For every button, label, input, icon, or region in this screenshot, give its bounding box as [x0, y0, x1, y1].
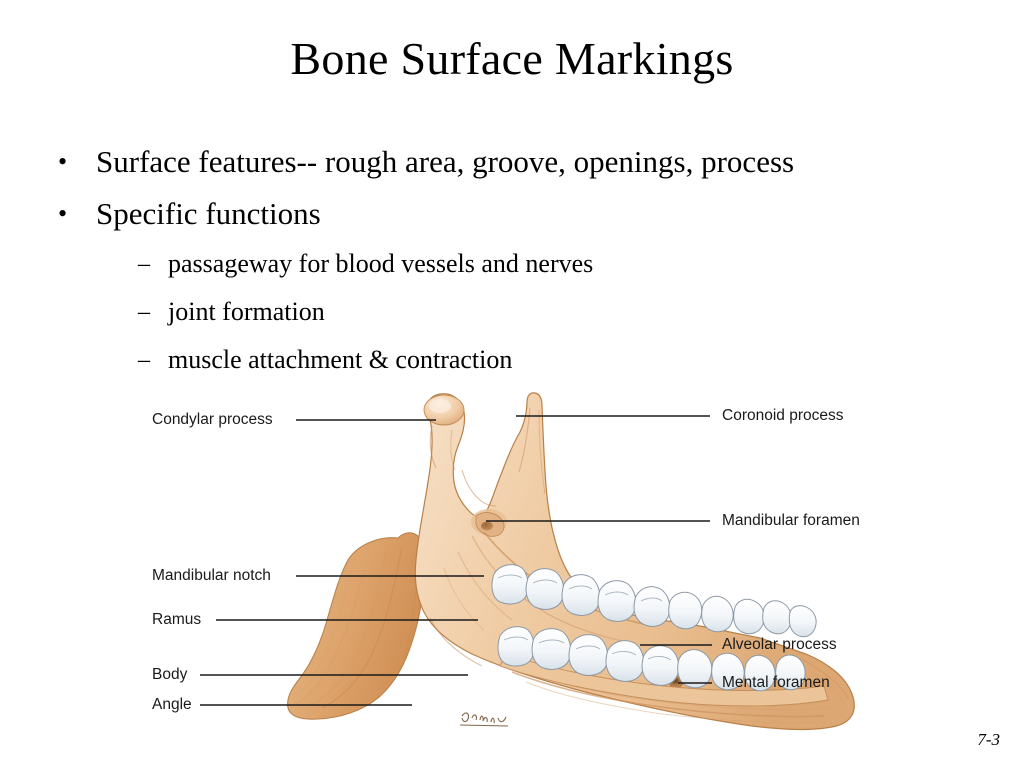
artist-signature [460, 713, 508, 726]
bullet-list: • Surface features-- rough area, groove,… [40, 136, 1000, 384]
label-mandibular-notch: Mandibular notch [152, 567, 271, 585]
bullet-text: passageway for blood vessels and nerves [168, 249, 593, 278]
label-body: Body [152, 666, 187, 684]
label-angle: Angle [152, 696, 192, 714]
bullet-item-passageway: – passageway for blood vessels and nerve… [40, 240, 1000, 288]
bullet-text: Surface features-- rough area, groove, o… [96, 144, 794, 179]
bullet-text: muscle attachment & contraction [168, 345, 512, 374]
mandible-diagram: Condylar process Mandibular notch Ramus … [0, 386, 1024, 736]
bullet-marker: – [138, 336, 150, 384]
label-coronoid-process: Coronoid process [722, 407, 843, 425]
bullet-item-specific-functions: • Specific functions [40, 188, 1000, 240]
bullet-item-surface-features: • Surface features-- rough area, groove,… [40, 136, 1000, 188]
label-mandibular-foramen: Mandibular foramen [722, 512, 860, 530]
label-alveolar-process: Alveolar process [722, 636, 837, 654]
bullet-text: Specific functions [96, 196, 321, 231]
label-condylar-process: Condylar process [152, 411, 273, 429]
page-title: Bone Surface Markings [0, 32, 1024, 86]
bullet-marker: • [58, 136, 67, 188]
bone-far-ramus [288, 533, 426, 719]
page-number: 7-3 [977, 730, 1000, 750]
bullet-item-muscle-attachment: – muscle attachment & contraction [40, 336, 1000, 384]
bullet-marker: – [138, 240, 150, 288]
label-mental-foramen: Mental foramen [722, 674, 830, 692]
bullet-item-joint-formation: – joint formation [40, 288, 1000, 336]
label-ramus: Ramus [152, 611, 201, 629]
bullet-text: joint formation [168, 297, 325, 326]
bullet-marker: • [58, 188, 67, 240]
bullet-marker: – [138, 288, 150, 336]
